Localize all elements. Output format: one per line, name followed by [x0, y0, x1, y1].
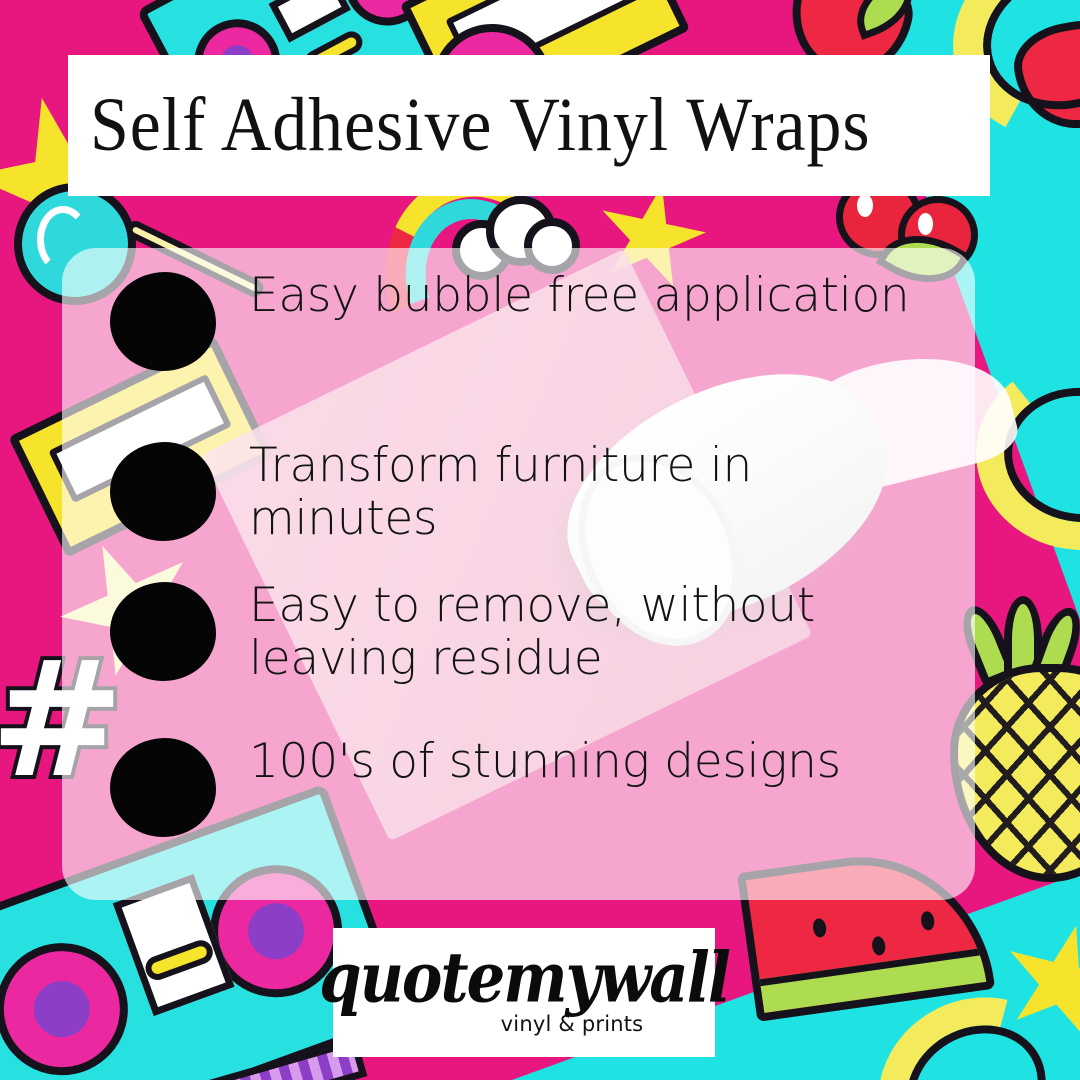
feature-text: Transform furniture in minutes — [249, 440, 949, 545]
feature-text: Easy bubble free application — [249, 270, 909, 323]
list-item: 100's of stunning designs — [62, 736, 975, 837]
feature-text: 100's of stunning designs — [249, 736, 841, 789]
title-banner: Self Adhesive Vinyl Wraps — [68, 55, 990, 196]
page-title: Self Adhesive Vinyl Wraps — [90, 82, 871, 169]
brand-logo: quotemywall vinyl & prints — [333, 928, 715, 1057]
bullet-dot-icon — [110, 272, 216, 371]
feature-list: Easy bubble free application Transform f… — [62, 270, 975, 870]
list-item: Transform furniture in minutes — [62, 440, 975, 545]
feature-text: Easy to remove, without leaving residue — [249, 580, 949, 685]
bullet-dot-icon — [110, 442, 216, 541]
bullet-dot-icon — [110, 582, 216, 681]
bullet-dot-icon — [110, 738, 216, 837]
logo-wordmark: quotemywall — [319, 946, 729, 1012]
list-item: Easy bubble free application — [62, 270, 975, 371]
list-item: Easy to remove, without leaving residue — [62, 580, 975, 685]
poster-canvas: # — [0, 0, 1080, 1080]
